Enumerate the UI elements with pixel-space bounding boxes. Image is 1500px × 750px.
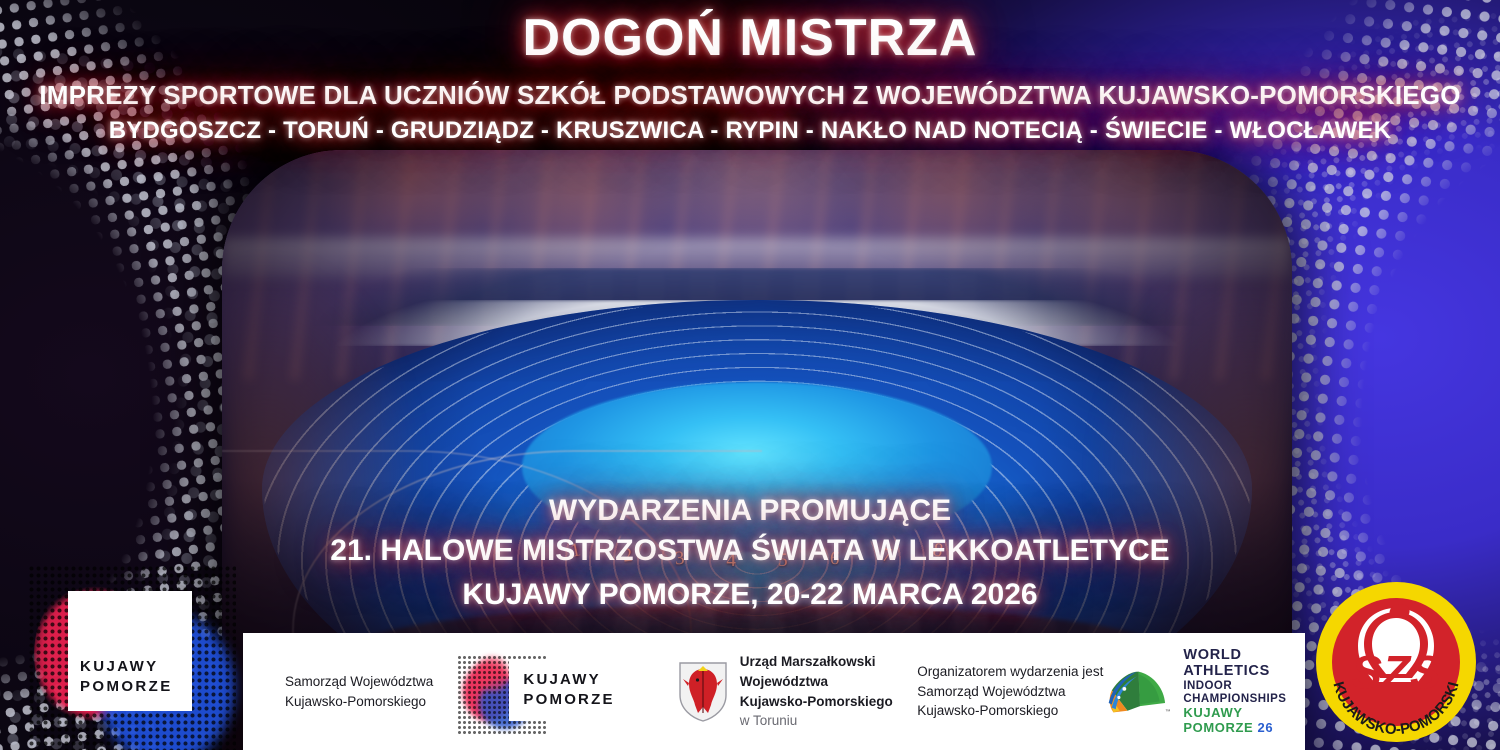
kujawy-pomorze-brand-tile: KUJAWY POMORZE <box>28 565 236 750</box>
promo-line-2: 21. HALOWE MISTRZOSTWA ŚWIATA W LEKKOATL… <box>0 534 1500 568</box>
svg-text:™: ™ <box>1165 709 1170 715</box>
page-title: DOGOŃ MISTRZA <box>0 8 1500 68</box>
szs-logo: SZS KUJAWSKO-POMORSKI <box>1312 578 1480 746</box>
szs-badge-icon: SZS KUJAWSKO-POMORSKI <box>1312 578 1480 746</box>
promo-line-1: WYDARZENIA PROMUJĄCE <box>0 494 1500 528</box>
samorzad-line-2: Kujawsko-Pomorskiego <box>285 692 433 712</box>
wa-line-2: INDOOR CHAMPIONSHIPS <box>1183 680 1305 706</box>
world-athletics-icon: ™ <box>1104 660 1171 724</box>
urzad-line-1: Urząd Marszałkowski <box>740 652 893 672</box>
wa-year: 26 <box>1258 720 1274 735</box>
urzad-line-4: w Toruniu <box>740 711 893 731</box>
cities-list: BYDGOSZCZ - TORUŃ - GRUDZIĄDZ - KRUSZWIC… <box>0 117 1500 145</box>
brand-tile-line-2: POMORZE <box>80 677 192 697</box>
logo-samorzad: Samorząd Województwa Kujawsko-Pomorskieg… <box>243 633 457 750</box>
brand-tile-white-box: KUJAWY POMORZE <box>68 591 192 711</box>
logo-urzad-marszalkowski: Urząd Marszałkowski Województwa Kujawsko… <box>678 633 917 750</box>
poster-root: 1 2 3 4 5 6 7 8 DOGOŃ MISTRZA IMPREZY SP… <box>0 0 1500 750</box>
urzad-line-2: Województwa <box>740 672 893 692</box>
logo-kujawy-pomorze: KUJAWY POMORZE <box>457 633 677 750</box>
kp-mark-line-2: POMORZE <box>523 690 657 710</box>
coat-of-arms-icon <box>678 661 728 723</box>
brand-tile-line-1: KUJAWY <box>80 657 192 677</box>
kujawy-pomorze-mark: KUJAWY POMORZE <box>457 655 657 729</box>
kp-mark-line-1: KUJAWY <box>523 670 657 690</box>
subtitle: IMPREZY SPORTOWE DLA UCZNIÓW SZKÓŁ PODST… <box>0 80 1500 111</box>
organizer-line-2: Samorząd Województwa <box>917 682 1103 702</box>
wa-line-1: WORLD ATHLETICS <box>1183 647 1305 680</box>
logo-world-athletics: ™ WORLD ATHLETICS INDOOR CHAMPIONSHIPS K… <box>1104 633 1305 750</box>
samorzad-line-1: Samorząd Województwa <box>285 672 433 692</box>
organizer-note: Organizatorem wydarzenia jest Samorząd W… <box>917 633 1104 750</box>
szs-acronym: SZS <box>1351 646 1441 698</box>
urzad-line-3: Kujawsko-Pomorskiego <box>740 692 893 712</box>
wa-line-3: KUJAWY POMORZE <box>1183 705 1253 735</box>
organizer-line-3: Kujawsko-Pomorskiego <box>917 701 1103 721</box>
organizer-line-1: Organizatorem wydarzenia jest <box>917 662 1103 682</box>
kp-mark-wordmark: KUJAWY POMORZE <box>509 659 657 721</box>
sponsor-logo-bar: Samorząd Województwa Kujawsko-Pomorskieg… <box>243 633 1305 750</box>
